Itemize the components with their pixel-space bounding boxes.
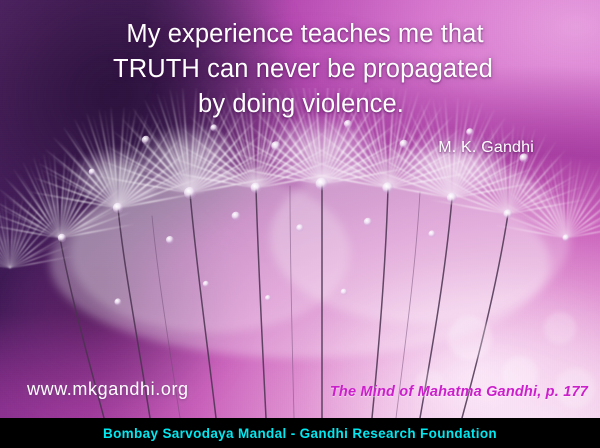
source-citation: The Mind of Mahatma Gandhi, p. 177 <box>330 384 588 400</box>
quote-line-3: by doing violence. <box>26 87 576 122</box>
quote-line-1: My experience teaches me that <box>34 17 576 52</box>
quote-poster: My experience teaches me that TRUTH can … <box>0 0 600 448</box>
quote-text: My experience teaches me that TRUTH can … <box>0 17 600 122</box>
quote-author: M. K. Gandhi <box>438 139 534 157</box>
footer-organization-text: Bombay Sarvodaya Mandal - Gandhi Researc… <box>103 426 497 441</box>
dandelion-illustration <box>0 88 600 418</box>
website-url[interactable]: www.mkgandhi.org <box>27 379 189 400</box>
quote-line-2: TRUTH can never be propagated <box>30 52 576 87</box>
footer-bar: Bombay Sarvodaya Mandal - Gandhi Researc… <box>0 418 600 448</box>
